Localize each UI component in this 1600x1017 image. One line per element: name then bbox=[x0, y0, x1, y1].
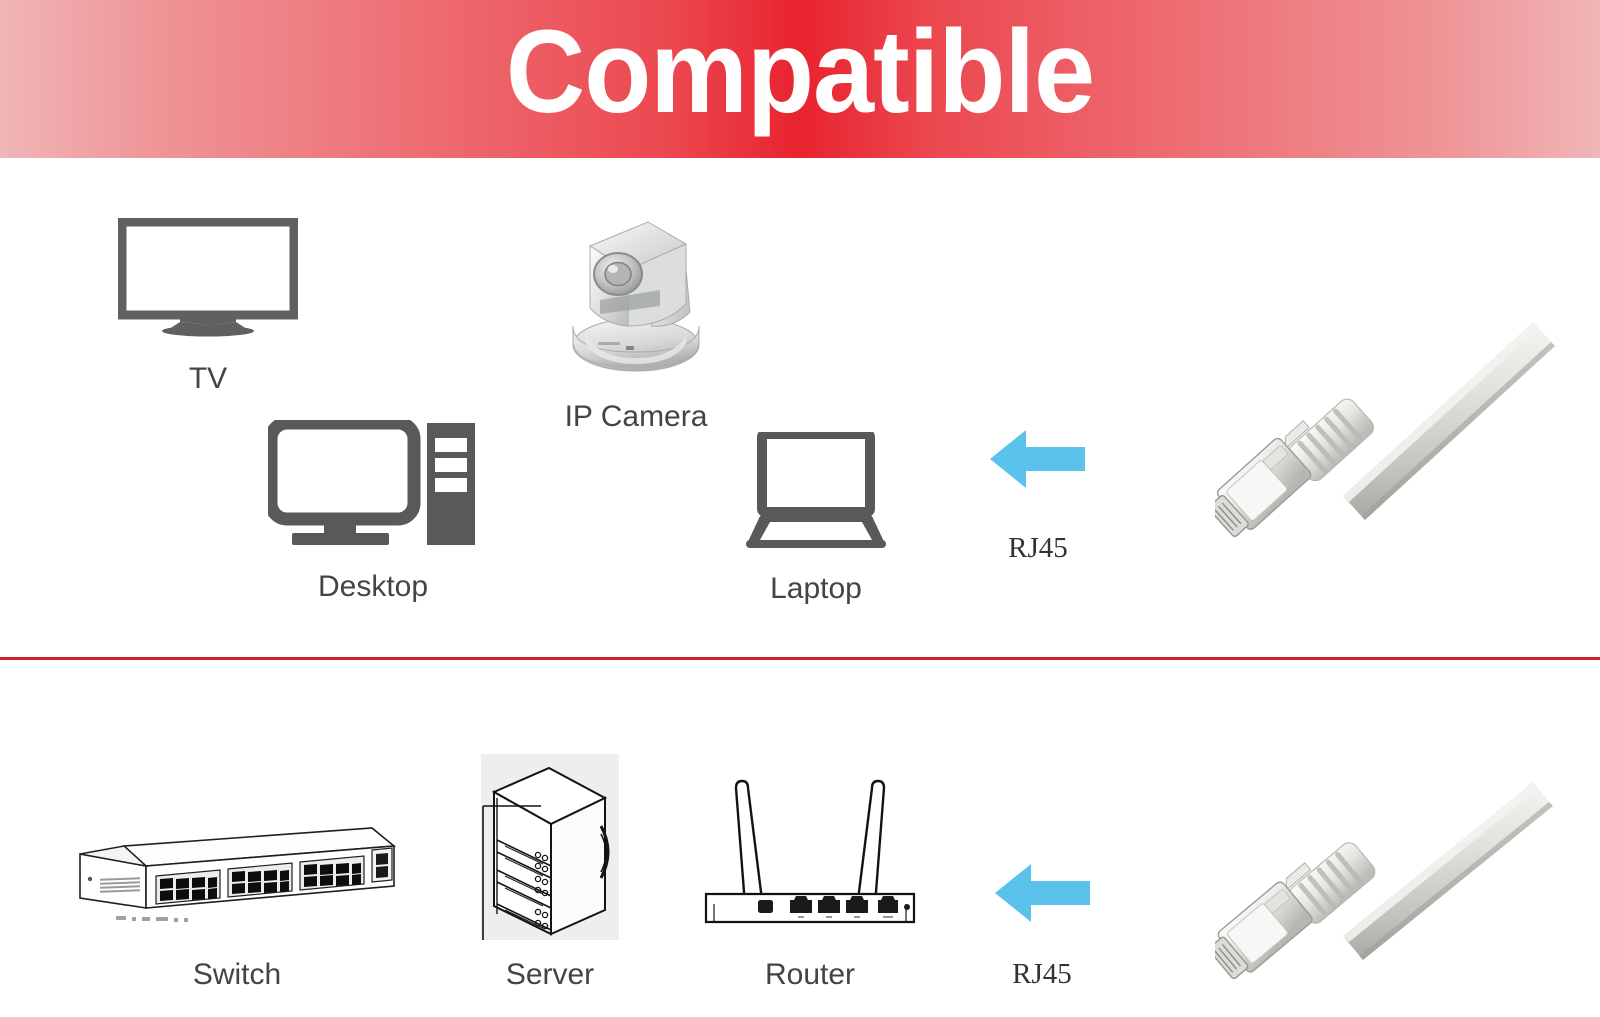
laptop-label: Laptop bbox=[706, 572, 926, 606]
compatibility-infographic: Compatible TV bbox=[0, 0, 1600, 1017]
tv-icon bbox=[118, 218, 298, 338]
wifi-router-icon bbox=[700, 770, 920, 928]
switch-label: Switch bbox=[72, 958, 402, 992]
page-title: Compatible bbox=[56, 8, 1544, 138]
server-label: Server bbox=[450, 958, 650, 992]
desktop-icon bbox=[268, 420, 478, 545]
rj45-cable-icon bbox=[1215, 760, 1600, 1017]
ip-camera-icon bbox=[556, 208, 716, 383]
section-divider bbox=[0, 657, 1600, 660]
rj45-label-top: RJ45 bbox=[958, 532, 1118, 565]
rj45-label-bottom: RJ45 bbox=[962, 958, 1122, 991]
rj45-cable-icon bbox=[1215, 300, 1600, 590]
tv-label: TV bbox=[118, 362, 298, 396]
desktop-label: Desktop bbox=[248, 570, 498, 604]
router-label: Router bbox=[700, 958, 920, 992]
arrow-left-icon bbox=[995, 862, 1090, 924]
laptop-icon bbox=[746, 432, 886, 549]
server-rack-icon bbox=[481, 754, 619, 940]
header-banner: Compatible bbox=[0, 0, 1600, 158]
ip-camera-label: IP Camera bbox=[516, 400, 756, 434]
network-switch-icon bbox=[72, 822, 402, 932]
arrow-left-icon bbox=[990, 428, 1085, 490]
